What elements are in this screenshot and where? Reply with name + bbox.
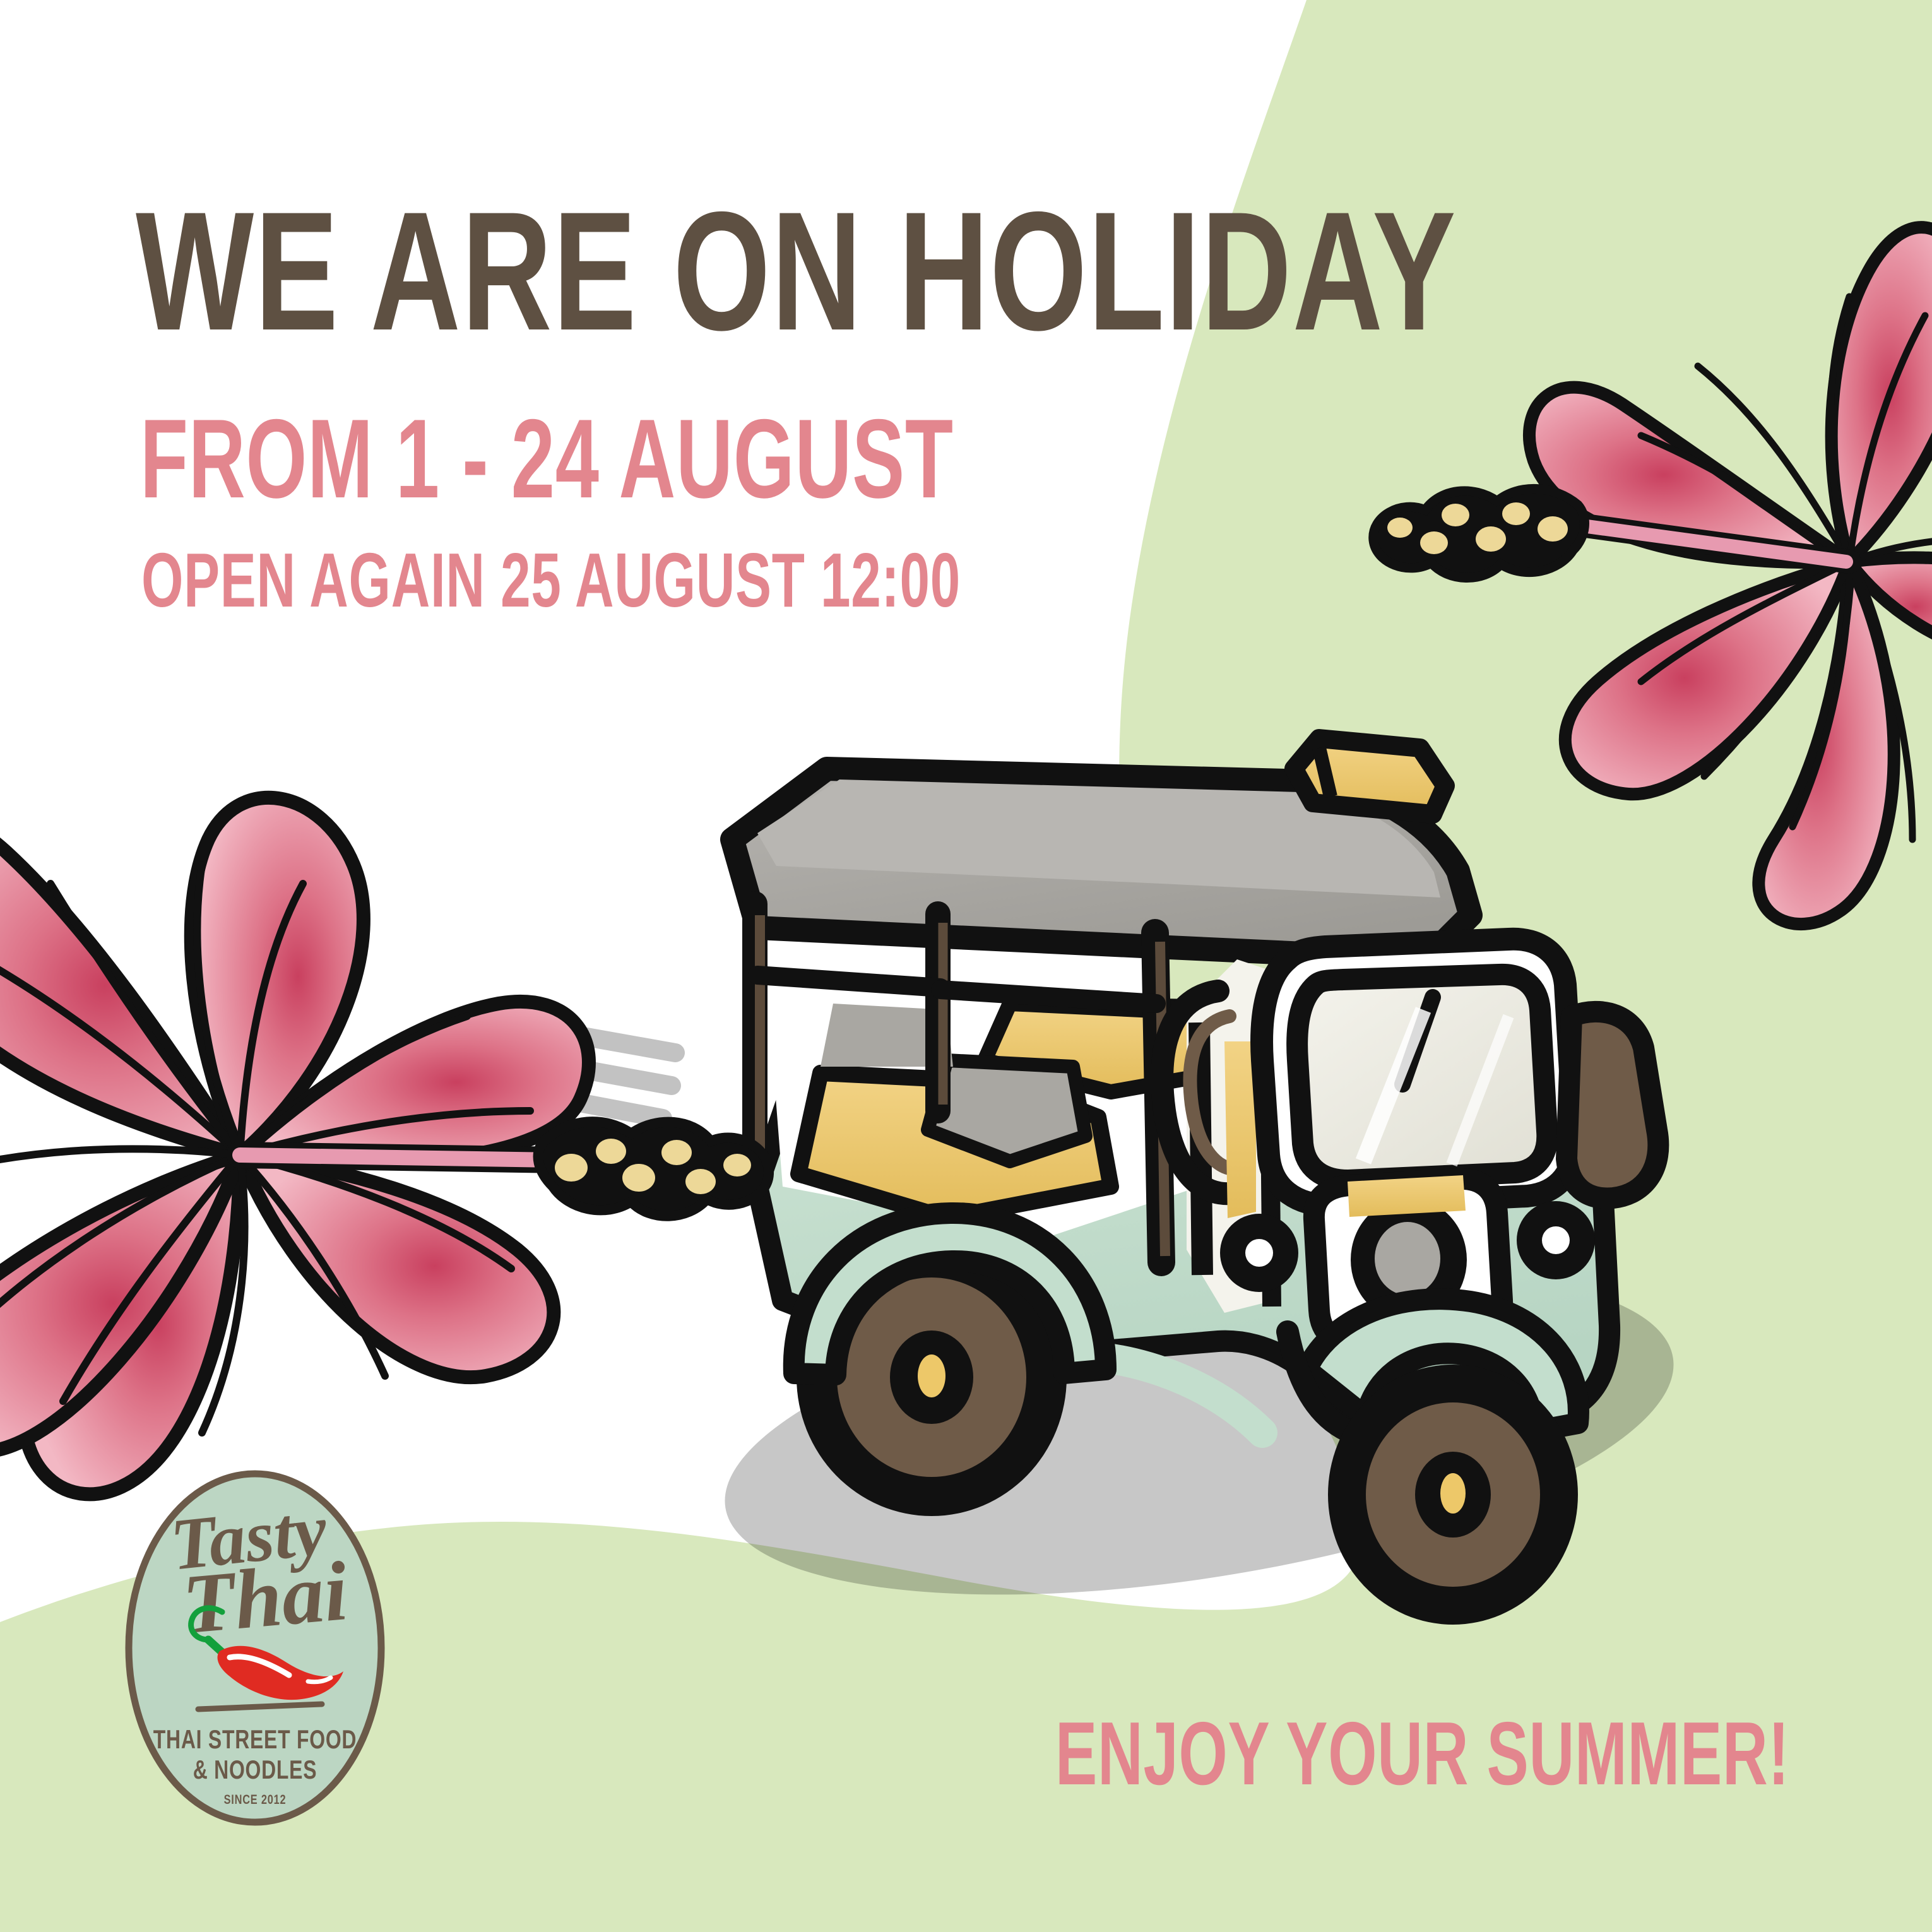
summer-greeting: ENJOY YOUR SUMMER! [1055,1712,1789,1797]
page-title: WE ARE ON HOLIDAY [136,193,1457,349]
logo-since-year: SINCE 2012 [224,1792,287,1806]
logo-script-thai: Thai [179,1544,352,1651]
holiday-announcement-poster: WE ARE ON HOLIDAY FROM 1 - 24 AUGUST OPE… [0,0,1932,1932]
holiday-date-range: FROM 1 - 24 AUGUST [140,405,954,512]
reopen-date: OPEN AGAIN 25 AUGUST 12:00 [141,544,961,617]
logo-tagline-line-2: & NOODLES [193,1755,317,1784]
logo-tagline-line-1: THAI STREET FOOD [153,1724,357,1754]
tasty-thai-logo[interactable]: Tasty Thai THAI STREET FOOD & NOODLES SI… [121,1468,389,1828]
